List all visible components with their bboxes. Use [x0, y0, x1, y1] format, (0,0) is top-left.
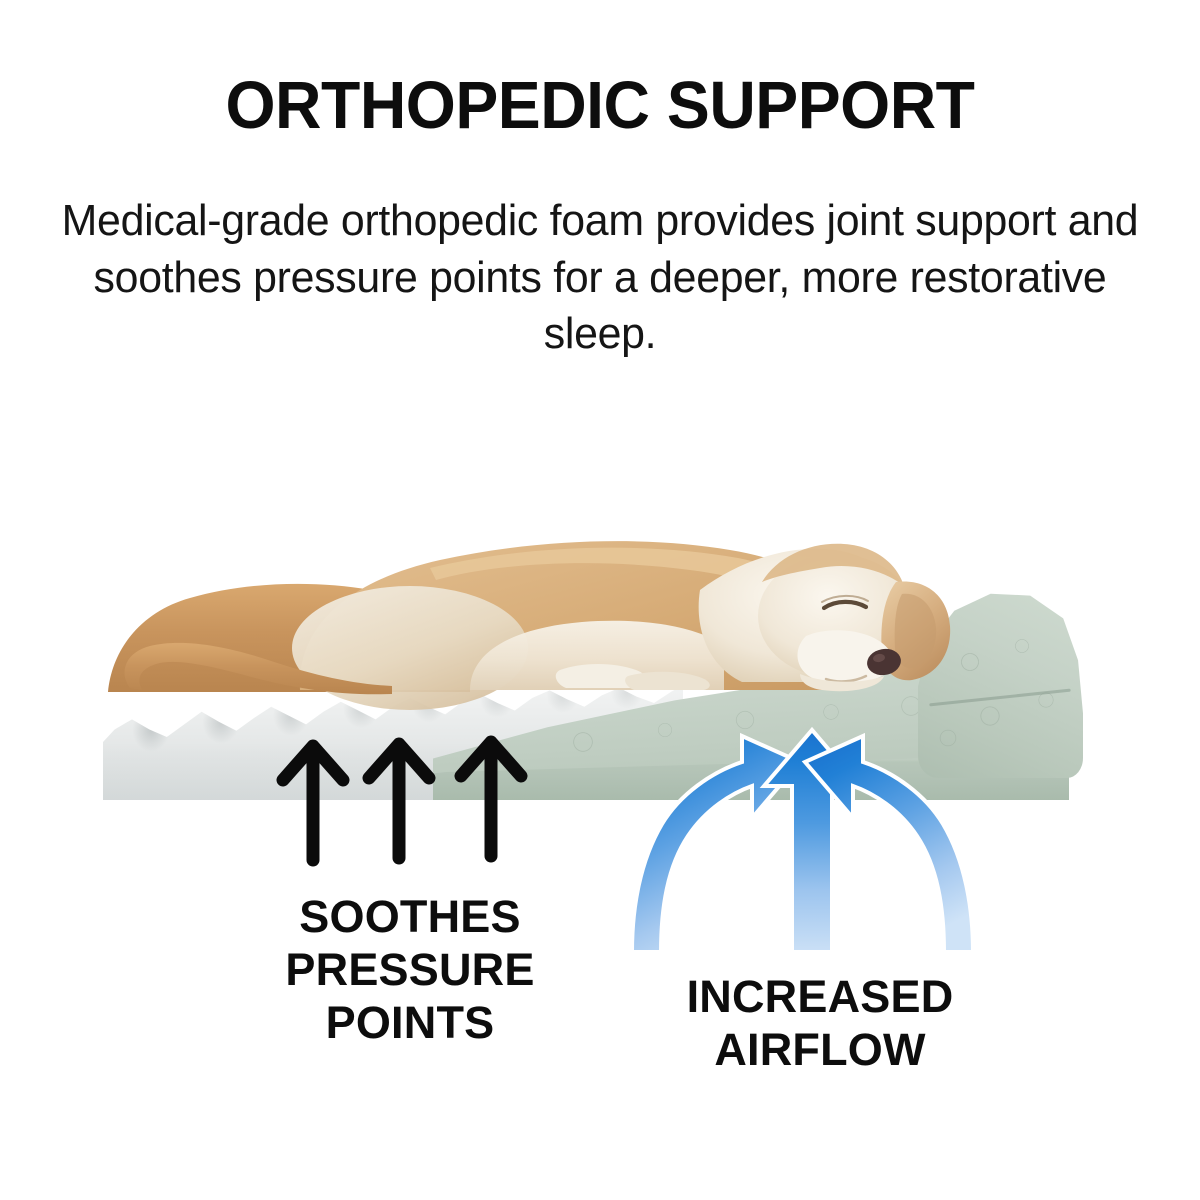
- product-scene: [0, 440, 1200, 840]
- description-text: Medical-grade orthopedic foam provides j…: [48, 193, 1151, 363]
- caption-pressure-line-3: POINTS: [210, 996, 610, 1049]
- page-title: ORTHOPEDIC SUPPORT: [24, 72, 1176, 139]
- caption-airflow-line-2: AIRFLOW: [620, 1023, 1020, 1076]
- caption-increased-airflow: INCREASED AIRFLOW: [620, 970, 1020, 1076]
- product-feature-card: ORTHOPEDIC SUPPORT Medical-grade orthope…: [0, 0, 1200, 1200]
- caption-pressure-line-2: PRESSURE: [210, 943, 610, 996]
- caption-airflow-line-1: INCREASED: [620, 970, 1020, 1023]
- caption-pressure-line-1: SOOTHES: [210, 890, 610, 943]
- sleeping-dog-image: [0, 440, 1200, 840]
- caption-soothes-pressure-points: SOOTHES PRESSURE POINTS: [210, 890, 610, 1049]
